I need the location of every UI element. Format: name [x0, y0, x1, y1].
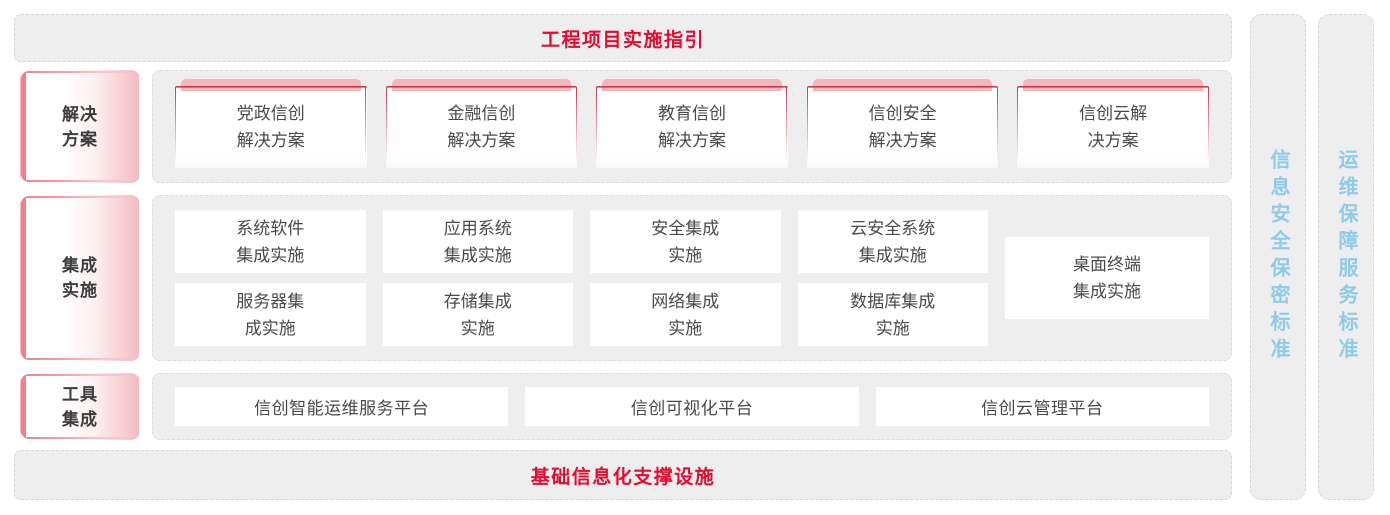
row-label-integration[interactable]: 集成 实施 [20, 195, 140, 361]
standard-column-operations[interactable]: 运维保障服务标准 [1318, 14, 1374, 500]
integration-card[interactable]: 网络集成 实施 [590, 283, 781, 346]
solution-card-line2: 解决方案 [447, 127, 515, 154]
row-label-integration-text: 集成 实施 [62, 253, 98, 303]
integration-card[interactable]: 数据库集成 实施 [798, 283, 989, 346]
integration-card-line2: 实施 [651, 242, 719, 269]
integration-tall-column: 桌面终端 集成实施 [1005, 210, 1209, 346]
tools-panel: 信创智能运维服务平台 信创可视化平台 信创云管理平台 [152, 373, 1232, 440]
solutions-card-row: 党政信创 解决方案 金融信创 解决方案 教育信创 解决方案 信创安全 [175, 86, 1209, 168]
row-label-solutions-text: 解决 方案 [62, 102, 98, 152]
tool-card[interactable]: 信创可视化平台 [525, 387, 858, 426]
standard-column-operations-label: 运维保障服务标准 [1336, 149, 1356, 365]
integration-card-line2: 实施 [444, 315, 512, 342]
solution-card-line1: 信创云解 [1079, 100, 1147, 127]
integration-card[interactable]: 安全集成 实施 [590, 210, 781, 273]
bottom-banner-title: 基础信息化支撑设施 [531, 462, 716, 489]
tool-card-label: 信创可视化平台 [631, 394, 754, 419]
integration-card-text: 应用系统 集成实施 [444, 215, 512, 269]
row-label-line1: 解决 [62, 102, 98, 127]
integration-card[interactable]: 云安全系统 集成实施 [798, 210, 989, 273]
row-label-tools-text: 工具 集成 [62, 382, 98, 432]
tool-card-label: 信创智能运维服务平台 [254, 394, 429, 419]
integration-card-text: 服务器集 成实施 [236, 288, 304, 342]
bottom-banner: 基础信息化支撑设施 [14, 450, 1232, 500]
solution-card[interactable]: 金融信创 解决方案 [386, 86, 578, 168]
integration-tall-line2: 集成实施 [1073, 278, 1141, 305]
integration-card-desktop-terminal[interactable]: 桌面终端 集成实施 [1005, 237, 1209, 319]
row-label-line2: 方案 [62, 127, 98, 152]
integration-column: 系统软件 集成实施 服务器集 成实施 [175, 210, 366, 346]
integration-card-line1: 服务器集 [236, 288, 304, 315]
solution-card-text: 信创安全 解决方案 [869, 100, 937, 154]
row-label-line2: 实施 [62, 278, 98, 303]
integration-card-line2: 实施 [651, 315, 719, 342]
solution-card-line1: 教育信创 [658, 100, 726, 127]
integration-card-text: 安全集成 实施 [651, 215, 719, 269]
row-label-tools[interactable]: 工具 集成 [20, 373, 140, 440]
integration-tall-card-text: 桌面终端 集成实施 [1073, 251, 1141, 305]
integration-columns: 系统软件 集成实施 服务器集 成实施 应用系统 [175, 210, 988, 346]
integration-column: 应用系统 集成实施 存储集成 实施 [383, 210, 574, 346]
tool-card[interactable]: 信创云管理平台 [876, 387, 1209, 426]
solutions-panel: 党政信创 解决方案 金融信创 解决方案 教育信创 解决方案 信创安全 [152, 70, 1232, 183]
solution-card[interactable]: 教育信创 解决方案 [596, 86, 788, 168]
integration-card-line1: 系统软件 [236, 215, 304, 242]
top-banner-title: 工程项目实施指引 [541, 25, 705, 52]
solution-card-line2: 解决方案 [869, 127, 937, 154]
row-label-line2: 集成 [62, 407, 98, 432]
integration-card-line1: 云安全系统 [850, 215, 935, 242]
row-label-underline [21, 437, 139, 439]
tools-card-row: 信创智能运维服务平台 信创可视化平台 信创云管理平台 [175, 387, 1209, 426]
solution-card-text: 金融信创 解决方案 [447, 100, 515, 154]
solution-card-text: 党政信创 解决方案 [237, 100, 305, 154]
solution-card-line2: 解决方案 [658, 127, 726, 154]
row-label-line1: 集成 [62, 253, 98, 278]
integration-grid: 系统软件 集成实施 服务器集 成实施 应用系统 [175, 210, 1209, 346]
integration-card-line1: 网络集成 [651, 288, 719, 315]
integration-card-line1: 存储集成 [444, 288, 512, 315]
integration-card[interactable]: 应用系统 集成实施 [383, 210, 574, 273]
integration-column: 云安全系统 集成实施 数据库集成 实施 [798, 210, 989, 346]
solution-card-line2: 决方案 [1079, 127, 1147, 154]
top-banner: 工程项目实施指引 [14, 14, 1232, 62]
row-label-solutions[interactable]: 解决 方案 [20, 70, 140, 183]
row-label-underline [21, 358, 139, 360]
standard-column-security[interactable]: 信息安全保密标准 [1250, 14, 1306, 500]
solution-card-line1: 信创安全 [869, 100, 937, 127]
integration-card-text: 数据库集成 实施 [850, 288, 935, 342]
tool-card-label: 信创云管理平台 [981, 394, 1104, 419]
integration-card-line1: 安全集成 [651, 215, 719, 242]
solution-card-text: 信创云解 决方案 [1079, 100, 1147, 154]
standard-column-security-label: 信息安全保密标准 [1268, 149, 1288, 365]
integration-panel: 系统软件 集成实施 服务器集 成实施 应用系统 [152, 195, 1232, 361]
integration-card-line2: 集成实施 [444, 242, 512, 269]
integration-card[interactable]: 存储集成 实施 [383, 283, 574, 346]
integration-card-line1: 应用系统 [444, 215, 512, 242]
integration-card-text: 系统软件 集成实施 [236, 215, 304, 269]
solution-card-line1: 党政信创 [237, 100, 305, 127]
integration-card-text: 存储集成 实施 [444, 288, 512, 342]
solution-card[interactable]: 信创安全 解决方案 [807, 86, 999, 168]
integration-tall-line1: 桌面终端 [1073, 251, 1141, 278]
solution-card-line2: 解决方案 [237, 127, 305, 154]
solution-card[interactable]: 党政信创 解决方案 [175, 86, 367, 168]
integration-card-line2: 成实施 [236, 315, 304, 342]
solution-card-line1: 金融信创 [447, 100, 515, 127]
row-label-underline [21, 180, 139, 182]
diagram-canvas: 工程项目实施指引 解决 方案 党政信创 解决方案 金融信创 解决方案 [0, 0, 1390, 515]
integration-card-line2: 集成实施 [236, 242, 304, 269]
integration-card[interactable]: 系统软件 集成实施 [175, 210, 366, 273]
integration-card[interactable]: 服务器集 成实施 [175, 283, 366, 346]
integration-column: 安全集成 实施 网络集成 实施 [590, 210, 781, 346]
row-label-line1: 工具 [62, 382, 98, 407]
integration-card-line2: 集成实施 [850, 242, 935, 269]
integration-card-line1: 数据库集成 [850, 288, 935, 315]
solution-card[interactable]: 信创云解 决方案 [1017, 86, 1209, 168]
integration-card-text: 网络集成 实施 [651, 288, 719, 342]
tool-card[interactable]: 信创智能运维服务平台 [175, 387, 508, 426]
solution-card-text: 教育信创 解决方案 [658, 100, 726, 154]
integration-card-line2: 实施 [850, 315, 935, 342]
integration-card-text: 云安全系统 集成实施 [850, 215, 935, 269]
